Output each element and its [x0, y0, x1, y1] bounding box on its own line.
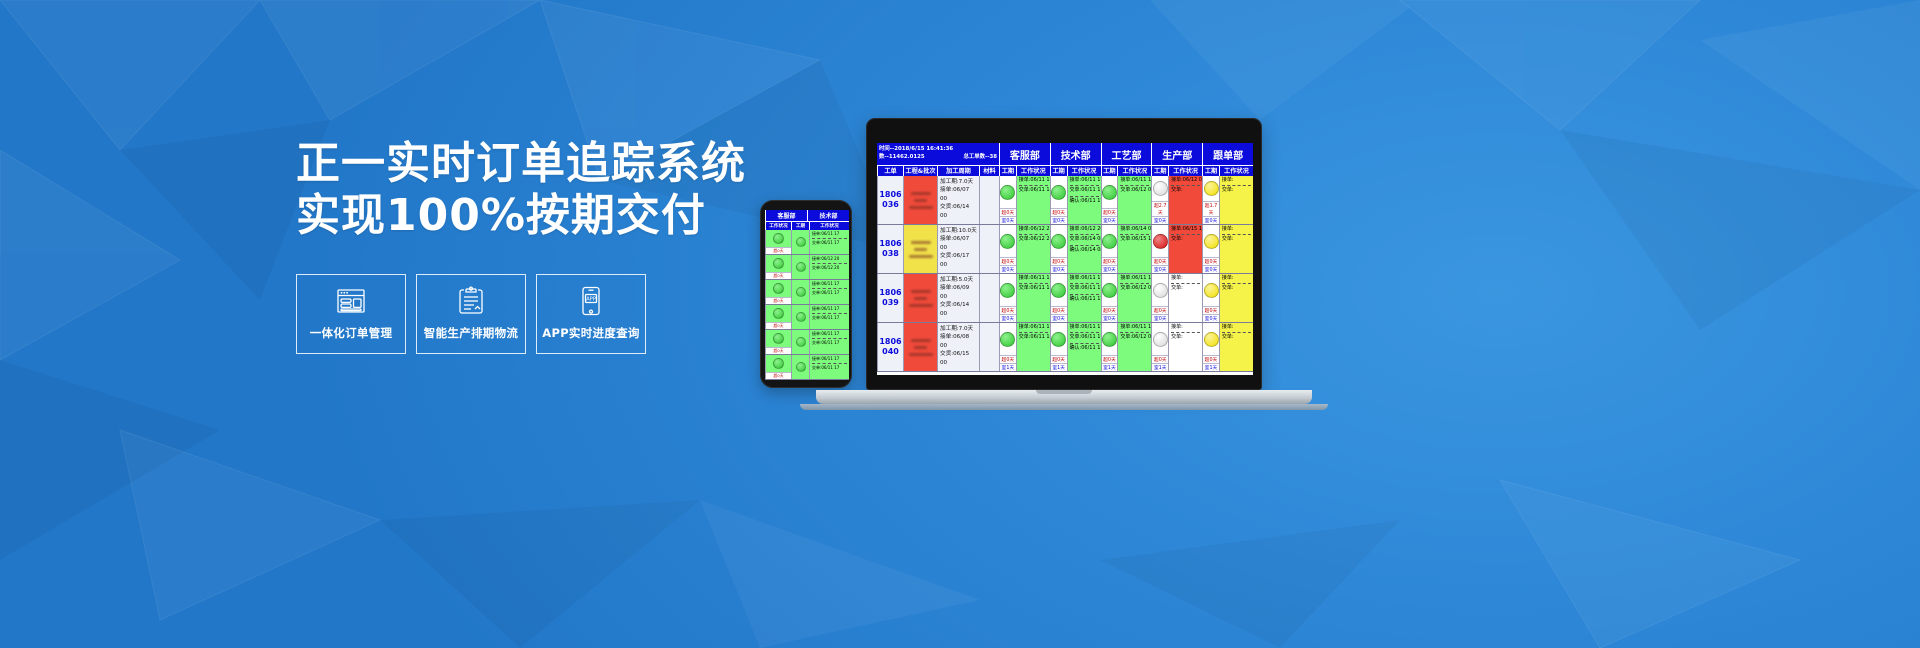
remaining-tag: 室0天	[1000, 265, 1016, 273]
processing-period-cell[interactable]: 加工期:5.0天接单:06/09 00交货:06/14 00	[937, 274, 979, 322]
status-indicator-wrap	[1051, 323, 1067, 355]
phone-info-cell[interactable]: 接单:06/12 20交单:06/12 20	[809, 255, 849, 279]
dept-status-cell[interactable]: 接单:06/12 20交单:06/14 08确认:06/14 08	[1067, 225, 1101, 273]
phone-column-headers: 工作状况工期工作状况	[765, 221, 849, 230]
phone-table-row[interactable]: 超0天接单:06/11 17交单:06/11 17	[765, 330, 849, 355]
erp-column-header[interactable]: 工单	[877, 165, 903, 176]
dept-duration-cell[interactable]: 超0天室0天	[1101, 176, 1118, 224]
phone-date-line: 接单:06/12 20	[812, 256, 847, 262]
material-cell[interactable]	[979, 274, 999, 322]
dept-duration-cell[interactable]: 超2.7天室0天	[1151, 176, 1168, 224]
status-date-line: 接单:	[1222, 324, 1251, 331]
phone-status-wrap	[792, 355, 809, 379]
clipboard-checklist-icon	[458, 286, 484, 316]
phone-department-header[interactable]: 技术部	[807, 210, 849, 221]
phone-date-line: 交单:06/12 20	[812, 265, 847, 271]
status-date-line: 确认:06/14 08	[1070, 247, 1099, 254]
period-line: 加工期:5.0天	[940, 276, 977, 284]
status-date-line: 接单:06/12 20	[1019, 226, 1048, 233]
project-batch-cell[interactable]	[903, 274, 937, 322]
phone-subcolumn-header[interactable]: 工作状况	[765, 221, 791, 230]
status-light-g[interactable]	[1051, 283, 1066, 298]
divider	[812, 338, 847, 339]
phone-status-cell[interactable]: 超0天	[765, 255, 791, 279]
feature-card-smart-scheduling[interactable]: 智能生产排期物流	[416, 274, 526, 354]
status-indicator-wrap	[1102, 274, 1118, 306]
table-row[interactable]: 1806040加工期:7.0天接单:06/08 00交货:06/15 00超0天…	[877, 323, 1253, 372]
status-light-y[interactable]	[1204, 332, 1219, 347]
dept-duration-cell[interactable]: 超0天室1天	[1151, 323, 1168, 371]
period-line: 接单:06/07 00	[940, 186, 977, 203]
divider	[1070, 196, 1099, 197]
status-date-line: 交单:	[1222, 187, 1251, 194]
page-title-line2: 实现100%按期交付	[296, 190, 716, 242]
feature-card-label: APP实时进度查询	[542, 325, 639, 341]
dept-status-cell[interactable]: 接单:交单:	[1219, 176, 1253, 224]
dept-status-cell[interactable]: 接单:06/11 17交单:06/11 17确认:06/11 17	[1067, 176, 1101, 224]
phone-status-cell[interactable]: 超0天	[765, 280, 791, 304]
erp-department-header[interactable]: 生产部	[1151, 143, 1202, 165]
remaining-tag: 室1天	[1152, 363, 1168, 371]
status-light-w[interactable]	[1153, 181, 1168, 196]
status-indicator-wrap	[1000, 225, 1016, 257]
dept-duration-cell[interactable]: 超1.7天室0天	[1202, 176, 1219, 224]
status-light-g[interactable]	[1102, 185, 1117, 200]
phone-info-cell[interactable]: 接单:06/11 17交单:06/11 17	[809, 330, 849, 354]
status-date-line: 接单:06/11 17	[1120, 177, 1149, 184]
divider	[812, 238, 847, 239]
dept-duration-cell[interactable]: 超0天室0天	[1050, 176, 1067, 224]
remaining-tag: 室0天	[1152, 314, 1168, 322]
erp-subcolumn-header[interactable]: 工期	[1202, 165, 1219, 176]
status-light-y[interactable]	[1204, 181, 1219, 196]
phone-table-row[interactable]: 超0天接单:06/12 20交单:06/12 20	[765, 255, 849, 280]
remaining-tag: 室0天	[1000, 216, 1016, 224]
order-number-cell[interactable]: 1806038	[877, 225, 903, 273]
hero-copy: 正一实时订单追踪系统 实现100%按期交付 一体化订单管理	[296, 138, 716, 354]
project-batch-cell[interactable]	[903, 323, 937, 371]
order-number-cell[interactable]: 1806036	[877, 176, 903, 224]
status-date-line: 接单:	[1222, 226, 1251, 233]
status-light-g[interactable]	[1051, 185, 1066, 200]
phone-date-line: 接单:06/11 17	[812, 306, 847, 312]
status-date-line: 交单:	[1222, 334, 1251, 341]
status-light-g[interactable]	[1102, 332, 1117, 347]
phone-status-cell[interactable]: 超0天	[765, 330, 791, 354]
phone-info-cell[interactable]: 接单:06/11 17交单:06/11 17	[809, 355, 849, 379]
erp-department-header[interactable]: 技术部	[1050, 143, 1101, 165]
phone-date-line: 接单:06/11 17	[812, 356, 847, 362]
remaining-tag: 室0天	[1152, 216, 1168, 224]
redacted-text	[914, 297, 927, 300]
dept-duration-cell[interactable]: 超0天室0天	[1050, 225, 1067, 273]
project-batch-cell[interactable]	[903, 225, 937, 273]
status-light-g[interactable]	[1102, 234, 1117, 249]
remaining-tag: 室0天	[1203, 265, 1219, 273]
dept-status-cell[interactable]: 接单:06/11 17交单:06/12 09	[1117, 274, 1151, 322]
period-line: 交货:06/14 00	[940, 301, 977, 318]
dept-duration-cell[interactable]: 超0天室0天	[1101, 274, 1118, 322]
phone-table-row[interactable]: 超0天接单:06/11 17交单:06/11 17	[765, 355, 849, 380]
dept-duration-cell[interactable]: 超0天室1天	[1202, 323, 1219, 371]
status-date-line: 确认:06/11 17	[1070, 198, 1099, 205]
overdue-tag: 超0天	[1000, 208, 1016, 216]
erp-subcolumn-header[interactable]: 工期	[1151, 165, 1168, 176]
erp-subcolumn-header[interactable]: 工作状况	[1067, 165, 1101, 176]
erp-table-body: 1806036加工期:7.0天接单:06/07 00交货:06/14 00超0天…	[877, 176, 1253, 372]
status-light-g[interactable]	[773, 283, 784, 294]
status-date-line: 交单:	[1171, 334, 1200, 341]
redacted-text	[909, 206, 933, 209]
status-date-line: 交单:06/12 20	[1019, 236, 1048, 243]
erp-count: 数--11462.0125	[879, 152, 925, 160]
phone-date-line: 交单:06/11 17	[812, 315, 847, 321]
processing-period-cell[interactable]: 加工期:10.0天接单:06/07 00交货:06/17 00	[937, 225, 979, 273]
erp-subcolumn-header[interactable]: 工作状况	[1016, 165, 1050, 176]
phone-date-line: 交单:06/11 17	[812, 365, 847, 371]
remaining-tag: 室0天	[1102, 216, 1118, 224]
erp-department-header[interactable]: 工艺部	[1101, 143, 1152, 165]
status-light-g[interactable]	[773, 233, 784, 244]
phone-date-line: 交单:06/11 17	[812, 290, 847, 296]
phone-table-row[interactable]: 超0天接单:06/11 17交单:06/11 17	[765, 280, 849, 305]
status-indicator-wrap	[1051, 176, 1067, 208]
dept-status-cell[interactable]: 接单:交单:	[1219, 274, 1253, 322]
order-number-line: 038	[882, 249, 899, 259]
redacted-text	[914, 346, 927, 349]
status-date-line: 接单:	[1171, 275, 1200, 282]
overdue-tag: 超0天	[1203, 306, 1219, 314]
dept-status-cell[interactable]: 接单:06/11 17交单:06/11 17确认:06/11 17	[1067, 274, 1101, 322]
dept-duration-cell[interactable]: 超0天室0天	[1050, 274, 1067, 322]
status-date-line: 接单:06/15 16	[1171, 226, 1200, 233]
table-row[interactable]: 1806039加工期:5.0天接单:06/09 00交货:06/14 00超0天…	[877, 274, 1253, 323]
status-light-w[interactable]	[1153, 332, 1168, 347]
smartphone-mockup: 客服部技术部工作状况工期工作状况超0天接单:06/11 17交单:06/11 1…	[760, 200, 852, 388]
phone-date-line: 接单:06/11 17	[812, 231, 847, 237]
status-light-g[interactable]	[773, 258, 784, 269]
period-line: 加工期:7.0天	[940, 325, 977, 333]
phone-table-row[interactable]: 超0天接单:06/11 17交单:06/11 17	[765, 230, 849, 255]
status-indicator-wrap	[1152, 225, 1168, 257]
erp-subcolumn-header[interactable]: 工作状况	[1168, 165, 1202, 176]
remaining-tag: 室0天	[1102, 265, 1118, 273]
phone-info-cell[interactable]: 接单:06/11 17交单:06/11 17	[809, 305, 849, 329]
feature-card-order-management[interactable]: 一体化订单管理	[296, 274, 406, 354]
phone-status-cell[interactable]: 超0天	[765, 230, 791, 254]
status-date-line: 接单:06/12 09	[1171, 177, 1200, 184]
browser-window-icon	[336, 286, 366, 316]
period-line: 交货:06/15 00	[940, 350, 977, 367]
divider	[812, 263, 847, 264]
period-line: 加工期:7.0天	[940, 178, 977, 186]
phone-duration-cell[interactable]	[791, 330, 809, 354]
phone-table-row[interactable]: 超0天接单:06/11 17交单:06/11 17	[765, 305, 849, 330]
status-date-line: 确认:06/11 17	[1070, 345, 1099, 352]
dept-duration-cell[interactable]: 超0天室1天	[1050, 323, 1067, 371]
phone-status-cell[interactable]: 超0天	[765, 305, 791, 329]
status-light-y[interactable]	[1204, 283, 1219, 298]
phone-subcolumn-header[interactable]: 工期	[791, 221, 809, 230]
status-indicator-wrap	[1152, 274, 1168, 306]
dept-duration-cell[interactable]: 超0天室0天	[999, 225, 1016, 273]
order-number-cell[interactable]: 1806040	[877, 323, 903, 371]
status-light-y[interactable]	[1204, 234, 1219, 249]
phone-overdue-tag: 超0天	[766, 272, 791, 279]
feature-card-list: 一体化订单管理 智能生产排期物流	[296, 274, 716, 354]
phone-overdue-tag: 超0天	[766, 247, 791, 254]
erp-column-header[interactable]: 材料	[979, 165, 999, 176]
status-light-g[interactable]	[1000, 283, 1015, 298]
status-light-g[interactable]	[1102, 283, 1117, 298]
remaining-tag: 室1天	[1051, 363, 1067, 371]
order-number-cell[interactable]: 1806039	[877, 274, 903, 322]
remaining-tag: 室0天	[1051, 216, 1067, 224]
status-date-line: 交单:	[1171, 187, 1200, 194]
divider	[812, 288, 847, 289]
status-date-line: 交单:06/11 17	[1019, 285, 1048, 292]
processing-period-cell[interactable]: 加工期:7.0天接单:06/08 00交货:06/15 00	[937, 323, 979, 371]
phone-date-line: 交单:06/11 17	[812, 240, 847, 246]
status-light-g[interactable]	[773, 308, 784, 319]
material-cell[interactable]	[979, 225, 999, 273]
status-light-g[interactable]	[1051, 332, 1066, 347]
overdue-tag: 超0天	[1152, 257, 1168, 265]
status-indicator-wrap	[1203, 323, 1219, 355]
period-line: 接单:06/08 00	[940, 333, 977, 350]
overdue-tag: 超0天	[1051, 257, 1067, 265]
erp-column-header[interactable]: 加工周期	[937, 165, 979, 176]
phone-info-cell[interactable]: 接单:06/11 17交单:06/11 17	[809, 280, 849, 304]
dept-status-cell[interactable]: 接单:06/11 17交单:06/11 17	[1016, 176, 1050, 224]
dept-status-cell[interactable]: 接单:06/11 17交单:06/12 09	[1117, 323, 1151, 371]
phone-status-wrap	[792, 305, 809, 329]
erp-subcolumn-header[interactable]: 工期	[1050, 165, 1067, 176]
phone-status-cell[interactable]: 超0天	[765, 355, 791, 379]
feature-card-app-progress[interactable]: APP APP实时进度查询	[536, 274, 646, 354]
status-date-line: 接单:06/11 17	[1019, 324, 1048, 331]
status-light-w[interactable]	[1153, 283, 1168, 298]
status-date-line: 接单:	[1171, 324, 1200, 331]
overdue-tag: 超0天	[1000, 306, 1016, 314]
material-cell[interactable]	[979, 323, 999, 371]
redacted-text	[911, 339, 931, 342]
phone-duration-cell[interactable]	[791, 305, 809, 329]
dept-duration-cell[interactable]: 超0天室0天	[1151, 225, 1168, 273]
redacted-text	[914, 248, 927, 251]
phone-overdue-tag: 超0天	[766, 322, 791, 329]
overdue-tag: 超0天	[1000, 355, 1016, 363]
erp-meta: 时间--2018/6/15 16:41:36数--11462.0125总工单数-…	[877, 143, 999, 165]
status-light-g[interactable]	[796, 337, 806, 347]
dept-status-cell[interactable]: 接单:06/14 08交单:06/15 16	[1117, 225, 1151, 273]
redacted-text	[911, 290, 931, 293]
erp-subcolumn-header[interactable]: 工作状况	[1117, 165, 1151, 176]
status-light-g[interactable]	[796, 262, 806, 272]
overdue-tag: 超1.7天	[1203, 201, 1219, 216]
dept-duration-cell[interactable]: 超0天室1天	[999, 323, 1016, 371]
status-date-line: 交单:06/11 17	[1019, 187, 1048, 194]
redacted-text	[911, 192, 931, 195]
phone-status-wrap	[792, 230, 809, 254]
erp-subcolumn-header[interactable]: 工期	[999, 165, 1016, 176]
status-date-line: 接单:06/11 17	[1120, 324, 1149, 331]
overdue-tag: 超0天	[1000, 257, 1016, 265]
status-light-g[interactable]	[773, 358, 784, 369]
processing-period-cell[interactable]: 加工期:7.0天接单:06/07 00交货:06/14 00	[937, 176, 979, 224]
status-indicator-wrap	[1102, 176, 1118, 208]
phone-date-line: 接单:06/11 17	[812, 281, 847, 287]
status-date-line: 接单:06/11 17	[1019, 177, 1048, 184]
divider	[1070, 245, 1099, 246]
erp-department-header[interactable]: 客服部	[999, 143, 1050, 165]
overdue-tag: 超0天	[1152, 306, 1168, 314]
overdue-tag: 超0天	[1102, 257, 1118, 265]
status-date-line: 接单:06/11 17	[1019, 275, 1048, 282]
dept-duration-cell[interactable]: 超0天室1天	[1101, 323, 1118, 371]
remaining-tag: 室0天	[1203, 216, 1219, 224]
order-number-line: 1806	[879, 190, 901, 200]
status-date-line: 交单:06/12 09	[1120, 334, 1149, 341]
material-cell[interactable]	[979, 176, 999, 224]
status-light-g[interactable]	[796, 287, 806, 297]
phone-screen[interactable]: 客服部技术部工作状况工期工作状况超0天接单:06/11 17交单:06/11 1…	[765, 210, 849, 380]
redacted-text	[909, 304, 933, 307]
dept-status-cell[interactable]: 接单:06/12 20交单:06/12 20	[1016, 225, 1050, 273]
status-date-line: 接单:06/11 17	[1070, 275, 1099, 282]
status-date-line: 交单:06/12 09	[1120, 285, 1149, 292]
erp-total-orders: 总工单数--38	[963, 152, 997, 160]
phone-duration-cell[interactable]	[791, 255, 809, 279]
status-indicator-wrap	[1203, 225, 1219, 257]
dept-duration-cell[interactable]: 超0天室0天	[1101, 225, 1118, 273]
erp-order-tracking-table[interactable]: 时间--2018/6/15 16:41:36数--11462.0125总工单数-…	[877, 143, 1253, 375]
erp-header-band: 时间--2018/6/15 16:41:36数--11462.0125总工单数-…	[877, 143, 1253, 165]
status-light-g[interactable]	[796, 237, 806, 247]
status-date-line: 交单:	[1222, 285, 1251, 292]
phone-status-wrap	[792, 255, 809, 279]
phone-status-wrap	[766, 305, 791, 322]
status-date-line: 交单:06/11 17	[1070, 285, 1099, 292]
divider	[812, 363, 847, 364]
overdue-tag: 超0天	[1102, 355, 1118, 363]
erp-subcolumn-header[interactable]: 工期	[1101, 165, 1118, 176]
status-light-g[interactable]	[796, 312, 806, 322]
laptop-foot	[800, 404, 1328, 410]
erp-subcolumn-header[interactable]: 工作状况	[1219, 165, 1253, 176]
dept-status-cell[interactable]: 接单:06/11 17交单:06/11 17确认:06/11 17	[1067, 323, 1101, 371]
status-light-g[interactable]	[1000, 332, 1015, 347]
overdue-tag: 超0天	[1051, 208, 1067, 216]
table-row[interactable]: 1806038加工期:10.0天接单:06/07 00交货:06/17 00超0…	[877, 225, 1253, 274]
phone-overdue-tag: 超0天	[766, 347, 791, 354]
dept-status-cell[interactable]: 接单:交单:	[1219, 323, 1253, 371]
dept-duration-cell[interactable]: 超0天室0天	[1202, 274, 1219, 322]
redacted-text	[909, 353, 933, 356]
divider	[1070, 294, 1099, 295]
erp-department-header[interactable]: 跟单部	[1202, 143, 1253, 165]
laptop-mockup: 时间--2018/6/15 16:41:36数--11462.0125总工单数-…	[866, 118, 1322, 418]
dept-status-cell[interactable]: 接单:06/12 09交单:	[1168, 176, 1202, 224]
period-line: 接单:06/07 00	[940, 235, 977, 252]
dept-status-cell[interactable]: 接单:交单:	[1168, 274, 1202, 322]
period-line: 交货:06/17 00	[940, 252, 977, 269]
dept-status-cell[interactable]: 接单:06/11 17交单:06/11 17	[1016, 323, 1050, 371]
app-icon-text: APP	[586, 297, 596, 303]
status-indicator-wrap	[1000, 323, 1016, 355]
phone-status-wrap	[792, 280, 809, 304]
overdue-tag: 超0天	[1152, 355, 1168, 363]
erp-department-headers: 客服部技术部工艺部生产部跟单部	[999, 143, 1253, 165]
status-light-g[interactable]	[1000, 234, 1015, 249]
status-light-r[interactable]	[1153, 234, 1168, 249]
status-light-g[interactable]	[1051, 234, 1066, 249]
dept-duration-cell[interactable]: 超0天室0天	[1202, 225, 1219, 273]
overdue-tag: 超0天	[1102, 306, 1118, 314]
phone-erp-table[interactable]: 客服部技术部工作状况工期工作状况超0天接单:06/11 17交单:06/11 1…	[765, 210, 849, 380]
status-light-g[interactable]	[796, 362, 806, 372]
phone-status-wrap	[766, 330, 791, 347]
order-number-line: 1806	[879, 239, 901, 249]
status-date-line: 交单:	[1222, 236, 1251, 243]
phone-status-wrap	[766, 230, 791, 247]
phone-info-cell[interactable]: 接单:06/11 17交单:06/11 17	[809, 230, 849, 254]
dept-duration-cell[interactable]: 超0天室0天	[1151, 274, 1168, 322]
status-date-line: 交单:06/11 17	[1019, 334, 1048, 341]
dept-status-cell[interactable]: 接单:06/11 17交单:06/12 09	[1117, 176, 1151, 224]
status-date-line: 接单:06/11 17	[1070, 324, 1099, 331]
status-date-line: 接单:06/11 17	[1120, 275, 1149, 282]
phone-body: 客服部技术部工作状况工期工作状况超0天接单:06/11 17交单:06/11 1…	[760, 200, 852, 388]
status-light-g[interactable]	[773, 333, 784, 344]
phone-overdue-tag: 超0天	[766, 297, 791, 304]
redacted-text	[914, 199, 927, 202]
order-number-line: 039	[882, 298, 899, 308]
order-number-line: 1806	[879, 337, 901, 347]
dept-duration-cell[interactable]: 超0天室0天	[999, 274, 1016, 322]
period-line: 交货:06/14 00	[940, 203, 977, 220]
dept-duration-cell[interactable]: 超0天室0天	[999, 176, 1016, 224]
table-row[interactable]: 1806036加工期:7.0天接单:06/07 00交货:06/14 00超0天…	[877, 176, 1253, 225]
dept-status-cell[interactable]: 接单:06/15 16交单:	[1168, 225, 1202, 273]
phone-subcolumn-header[interactable]: 工作状况	[809, 221, 849, 230]
overdue-tag: 超0天	[1051, 306, 1067, 314]
phone-duration-cell[interactable]	[791, 280, 809, 304]
status-indicator-wrap	[1102, 323, 1118, 355]
remaining-tag: 室0天	[1203, 314, 1219, 322]
erp-column-header[interactable]: 工程&批次	[903, 165, 937, 176]
dept-status-cell[interactable]: 接单:交单:	[1168, 323, 1202, 371]
laptop-screen[interactable]: 时间--2018/6/15 16:41:36数--11462.0125总工单数-…	[877, 143, 1253, 375]
status-indicator-wrap	[1051, 225, 1067, 257]
status-date-line: 接单:	[1222, 177, 1251, 184]
phone-duration-cell[interactable]	[791, 355, 809, 379]
status-indicator-wrap	[1102, 225, 1118, 257]
phone-status-wrap	[792, 330, 809, 354]
dept-status-cell[interactable]: 接单:06/11 17交单:06/11 17	[1016, 274, 1050, 322]
status-light-g[interactable]	[1000, 185, 1015, 200]
overdue-tag: 超2.7天	[1152, 201, 1168, 216]
status-indicator-wrap	[1152, 323, 1168, 355]
dept-status-cell[interactable]: 接单:交单:	[1219, 225, 1253, 273]
status-date-line: 交单:06/11 17	[1070, 334, 1099, 341]
project-batch-cell[interactable]	[903, 176, 937, 224]
remaining-tag: 室0天	[1102, 314, 1118, 322]
phone-duration-cell[interactable]	[791, 230, 809, 254]
page-title-line1: 正一实时订单追踪系统	[296, 138, 716, 190]
status-indicator-wrap	[1203, 176, 1219, 201]
phone-department-header[interactable]: 客服部	[765, 210, 807, 221]
